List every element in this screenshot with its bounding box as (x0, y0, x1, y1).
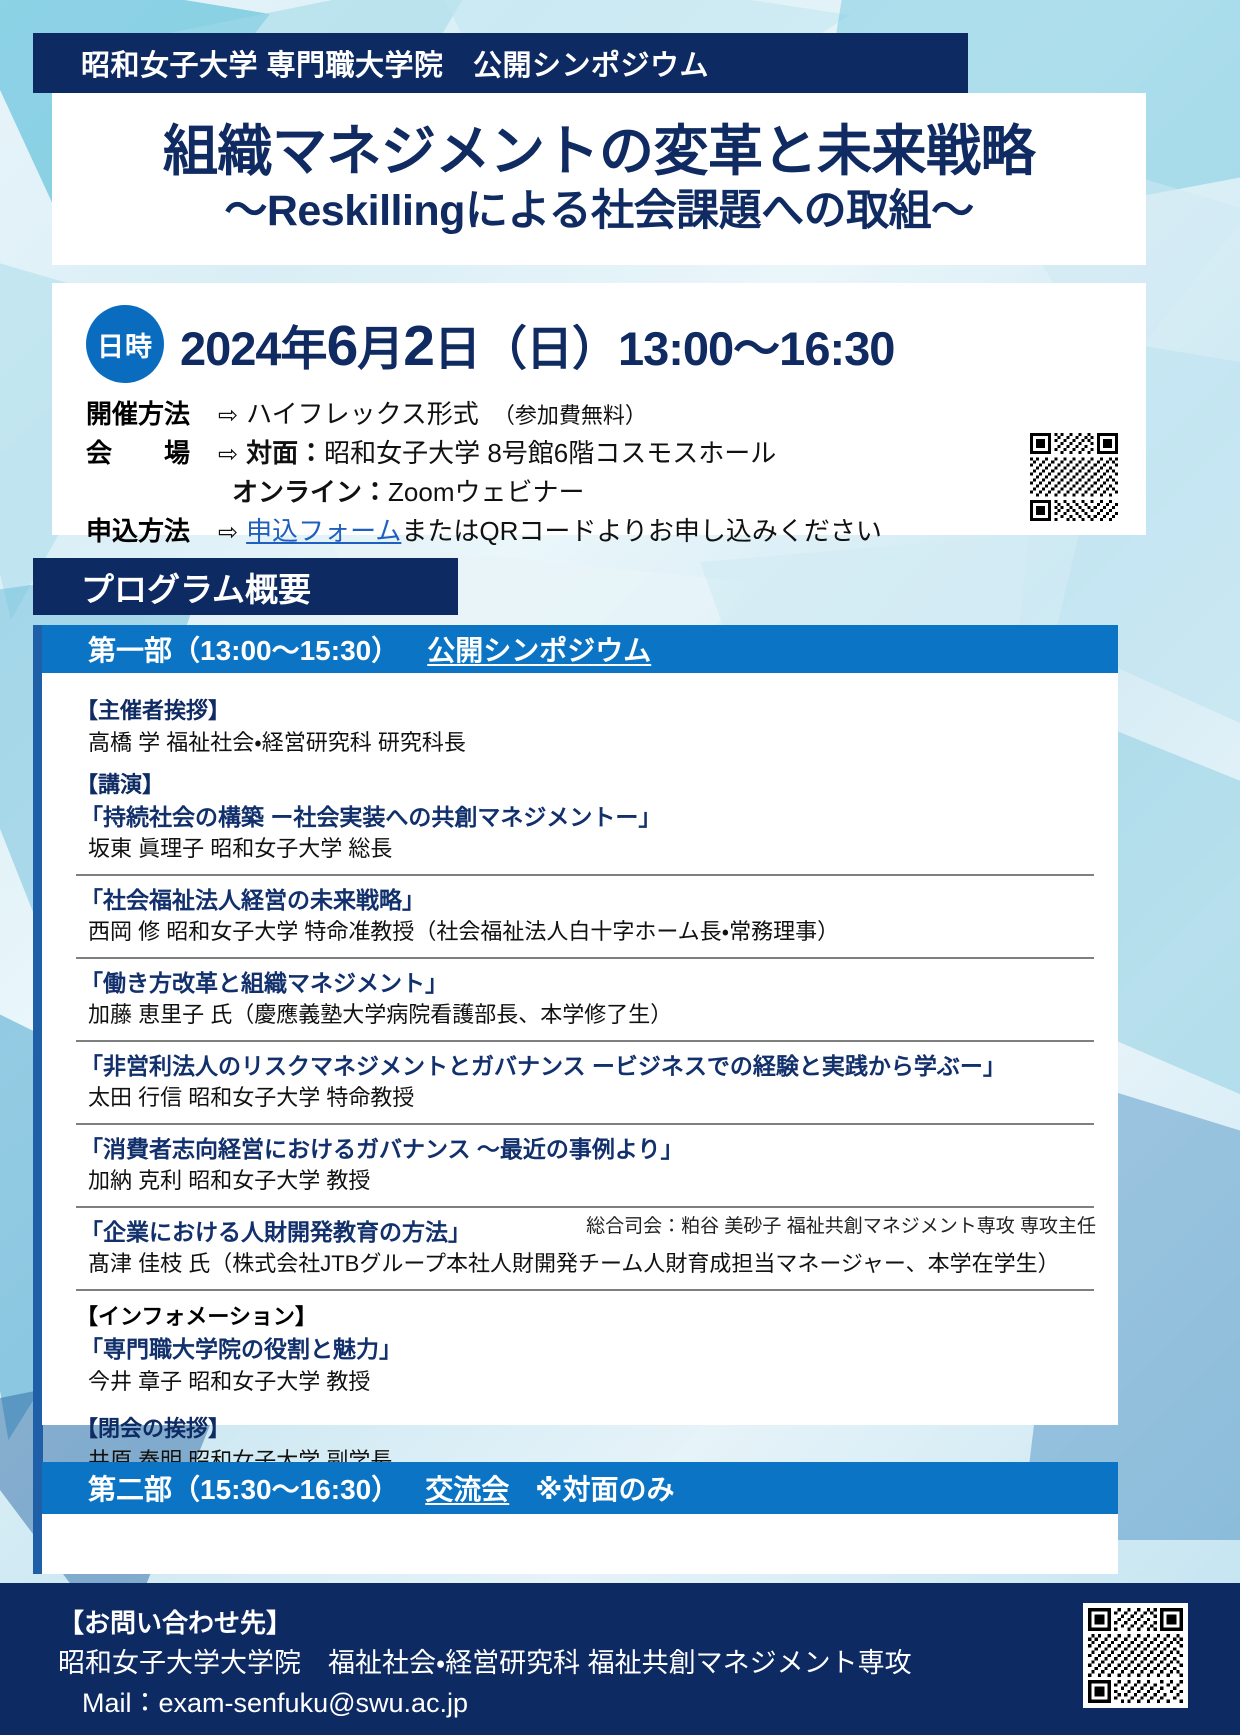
moderator-note: 総合司会：粕谷 美砂子 福祉共創マネジメント専攻 専攻主任 (586, 1211, 1096, 1238)
venue-label: 会 場 (86, 434, 216, 473)
datetime-value: 2024年6月2日（日）13:00〜16:30 (180, 310, 894, 379)
lecture-speaker: 坂東 眞理子 昭和女子大学 総長 (76, 833, 1094, 865)
divider (76, 1289, 1094, 1291)
lecture-speaker: 加藤 恵里子 氏（慶應義塾大学病院看護部長、本学修了生） (76, 999, 1094, 1031)
arrow-icon: ⇨ (218, 515, 238, 551)
program-items: 【主催者挨拶】 高橋 学 福祉社会・経営研究科 研究科長 【講演】 「持続社会の… (42, 673, 1118, 1477)
lecture-speaker: 西岡 修 昭和女子大学 特命准教授（社会福祉法人白十字ホーム長・常務理事） (76, 916, 1094, 948)
venue-online-label: オンライン： (232, 473, 388, 512)
information-person: 今井 章子 昭和女子大学 教授 (76, 1366, 1094, 1398)
contact-mail[interactable]: Mail：exam-senfuku@swu.ac.jp (58, 1683, 1240, 1724)
lecture-title: 「持続社会の構築 ー社会実装への共創マネジメントー」 (76, 801, 1094, 833)
lecture-title: 「消費者志向経営におけるガバナンス 〜最近の事例より」 (76, 1133, 1094, 1165)
qr-code-registration[interactable] (1030, 433, 1118, 521)
page-title: 組織マネジメントの変革と未来戦略 (163, 121, 1035, 183)
apply-label: 申込方法 (86, 512, 216, 551)
datetime-badge: 日時 (86, 305, 164, 383)
venue-online-line: オンライン： Zoomウェビナー (86, 473, 1120, 512)
apply-form-link[interactable]: 申込フォーム (246, 512, 401, 551)
qr-code-contact[interactable] (1083, 1603, 1188, 1708)
greeting-heading: 【主催者挨拶】 (76, 693, 1094, 725)
footer-contact: 【お問い合わせ先】 昭和女子大学大学院 福祉社会・経営研究科 福祉共創マネジメン… (0, 1583, 1240, 1735)
part1-bar: 第一部（13:00〜15:30） 公開シンポジウム (42, 625, 1118, 673)
divider (76, 874, 1094, 876)
divider (76, 1123, 1094, 1125)
program-heading: プログラム概要 (33, 558, 458, 615)
lecture-speaker: 髙津 佳枝 氏（株式会社JTBグループ本社人財開発チーム人財育成担当マネージャー… (76, 1248, 1094, 1280)
contact-organization: 昭和女子大学大学院 福祉社会・経営研究科 福祉共創マネジメント専攻 (58, 1643, 1240, 1684)
poster-canvas: 昭和女子大学 専門職大学院 公開シンポジウム 組織マネジメントの変革と未来戦略 … (0, 0, 1240, 1735)
method-note: （参加費無料） (493, 399, 647, 432)
title-block: 組織マネジメントの変革と未来戦略 〜Reskillingによる社会課題への取組〜 (52, 93, 1146, 265)
greeting-person: 高橋 学 福祉社会・経営研究科 研究科長 (76, 727, 1094, 759)
method-label: 開催方法 (86, 395, 216, 434)
lecture-item: 「社会福祉法人経営の未来戦略」 西岡 修 昭和女子大学 特命准教授（社会福祉法人… (76, 884, 1094, 948)
method-value: ハイフレックス形式 (246, 395, 479, 434)
datetime-row: 日時 2024年6月2日（日）13:00〜16:30 (86, 305, 1120, 383)
lecture-item: 「持続社会の構築 ー社会実装への共創マネジメントー」 坂東 眞理子 昭和女子大学… (76, 801, 1094, 865)
lecture-item: 「消費者志向経営におけるガバナンス 〜最近の事例より」 加納 克利 昭和女子大学… (76, 1133, 1094, 1197)
lecture-speaker: 太田 行信 昭和女子大学 特命教授 (76, 1082, 1094, 1114)
method-line: 開催方法 ⇨ ハイフレックス形式 （参加費無料） (86, 395, 1120, 434)
lecture-title: 「非営利法人のリスクマネジメントとガバナンス ービジネスでの経験と実践から学ぶー… (76, 1050, 1094, 1082)
apply-line: 申込方法 ⇨ 申込フォーム またはQRコードよりお申し込みください (86, 512, 1120, 551)
lecture-speaker: 加納 克利 昭和女子大学 教授 (76, 1165, 1094, 1197)
venue-onsite-label: 対面： (246, 434, 324, 473)
divider (76, 957, 1094, 959)
contact-heading: 【お問い合わせ先】 (58, 1605, 1240, 1643)
event-detail-lines: 開催方法 ⇨ ハイフレックス形式 （参加費無料） 会 場 ⇨ 対面： 昭和女子大… (86, 395, 1120, 551)
lecture-heading: 【講演】 (76, 767, 1094, 799)
venue-line: 会 場 ⇨ 対面： 昭和女子大学 8号館6階コスモスホール (86, 434, 1120, 473)
lecture-item: 「働き方改革と組織マネジメント」 加藤 恵里子 氏（慶應義塾大学病院看護部長、本… (76, 967, 1094, 1031)
information-title: 「専門職大学院の役割と魅力」 (76, 1333, 1094, 1365)
program-body-tail (42, 1514, 1118, 1574)
venue-onsite-value: 昭和女子大学 8号館6階コスモスホール (324, 434, 776, 473)
closing-heading: 【閉会の挨拶】 (76, 1411, 1094, 1443)
event-info-card: 日時 2024年6月2日（日）13:00〜16:30 開催方法 ⇨ ハイフレック… (52, 283, 1146, 535)
divider (76, 1040, 1094, 1042)
lecture-item: 「非営利法人のリスクマネジメントとガバナンス ービジネスでの経験と実践から学ぶー… (76, 1050, 1094, 1114)
arrow-icon: ⇨ (218, 398, 238, 434)
part2-title: 第二部（15:30〜16:30） (88, 1468, 399, 1508)
arrow-icon: ⇨ (218, 437, 238, 473)
venue-online-value: Zoomウェビナー (388, 473, 584, 512)
part1-title: 第一部（13:00〜15:30） (88, 629, 399, 669)
event-kicker: 昭和女子大学 専門職大学院 公開シンポジウム (33, 33, 968, 93)
part2-bar: 第二部（15:30〜16:30） 交流会 ※対面のみ (42, 1462, 1118, 1514)
lecture-title: 「社会福祉法人経営の未来戦略」 (76, 884, 1094, 916)
apply-rest-text: またはQRコードよりお申し込みください (401, 512, 881, 551)
page-subtitle: 〜Reskillingによる社会課題への取組〜 (224, 187, 973, 236)
lecture-title: 「働き方改革と組織マネジメント」 (76, 967, 1094, 999)
part2-note: ※対面のみ (535, 1468, 674, 1508)
part2-label: 交流会 (425, 1468, 509, 1508)
program-body: 第一部（13:00〜15:30） 公開シンポジウム 【主催者挨拶】 高橋 学 福… (42, 625, 1118, 1425)
information-heading: 【インフォメーション】 (76, 1299, 1094, 1331)
part1-label: 公開シンポジウム (427, 629, 651, 669)
divider (76, 1206, 1094, 1208)
